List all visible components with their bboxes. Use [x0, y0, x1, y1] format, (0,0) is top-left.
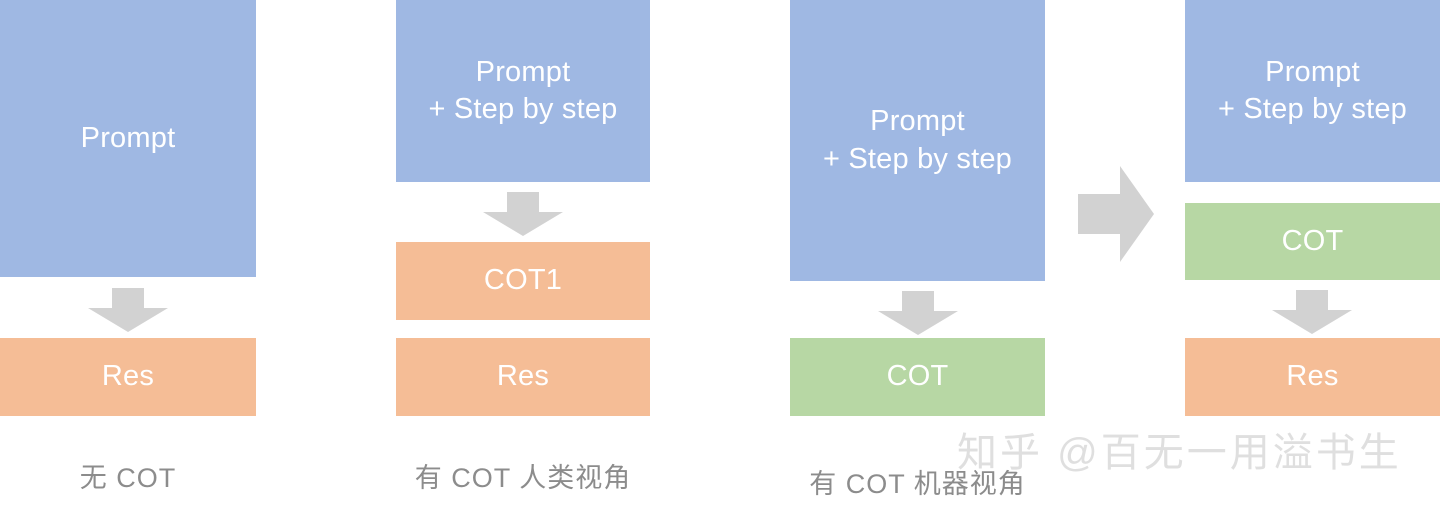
node-label: Prompt — [81, 120, 176, 157]
arrow-down-icon-col2-a — [483, 192, 563, 236]
node-label: Prompt + Step by step — [1218, 54, 1407, 128]
arrow-down-glyph — [88, 288, 168, 332]
node-col2-res: Res — [396, 338, 650, 416]
caption-col1: 无 COT — [0, 456, 256, 495]
arrow-down-icon-col4 — [1272, 290, 1352, 334]
node-col4-cot: COT — [1185, 203, 1440, 280]
node-label: COT1 — [484, 262, 562, 299]
node-label: Prompt + Step by step — [428, 54, 617, 128]
node-col4-res: Res — [1185, 338, 1440, 416]
node-col2-prompt-step: Prompt + Step by step — [396, 0, 650, 182]
diagram-canvas: Prompt Res 无 COT Prompt + Step by step C… — [0, 0, 1440, 514]
node-col1-res: Res — [0, 338, 256, 416]
node-col3-cot: COT — [790, 338, 1045, 416]
arrow-right-glyph — [1078, 166, 1154, 262]
caption-col2: 有 COT 人类视角 — [396, 456, 650, 495]
arrow-down-icon-col3 — [878, 291, 958, 335]
node-col2-cot1: COT1 — [396, 242, 650, 320]
node-col1-prompt: Prompt — [0, 0, 256, 277]
node-label: Prompt + Step by step — [823, 103, 1012, 177]
arrow-right-icon — [1078, 166, 1154, 262]
arrow-down-icon-col1 — [88, 288, 168, 332]
node-label: COT — [887, 358, 949, 395]
node-col3-prompt-step: Prompt + Step by step — [790, 0, 1045, 281]
node-label: Res — [1286, 358, 1338, 395]
arrow-down-glyph — [878, 291, 958, 335]
arrow-down-glyph — [1272, 290, 1352, 334]
node-col4-prompt-step: Prompt + Step by step — [1185, 0, 1440, 182]
node-label: Res — [102, 358, 154, 395]
arrow-down-glyph — [483, 192, 563, 236]
node-label: Res — [497, 358, 549, 395]
caption-col3: 有 COT 机器视角 — [790, 462, 1045, 501]
node-label: COT — [1282, 223, 1344, 260]
